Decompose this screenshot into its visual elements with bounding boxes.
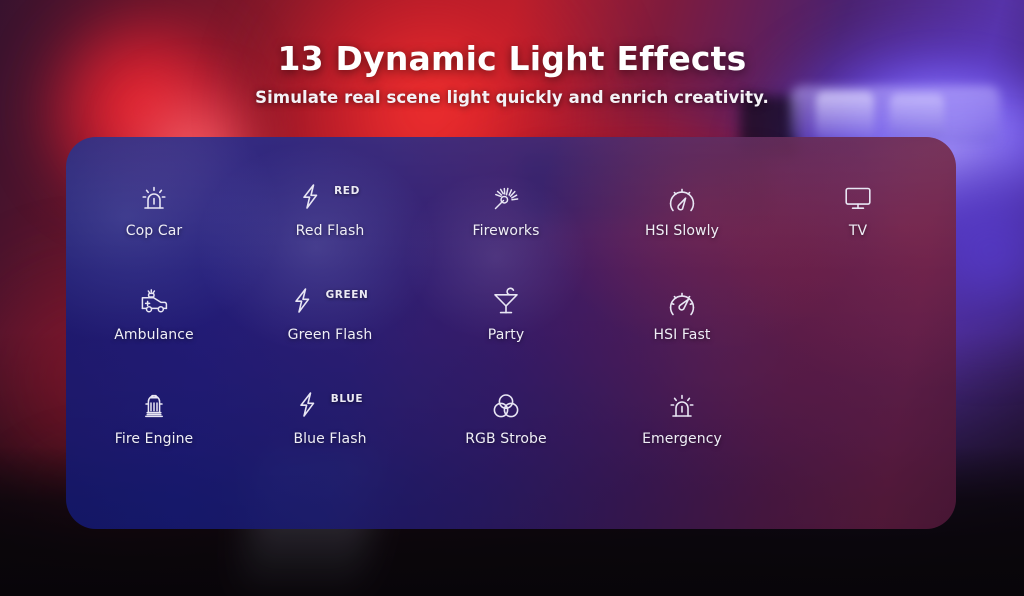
- effect-item-red-flash[interactable]: REDRed Flash: [242, 171, 418, 275]
- effect-label: Fireworks: [472, 223, 539, 239]
- venn-circles-icon: [491, 391, 521, 421]
- effects-row: Cop CarREDRed FlashFireworksHSI SlowlyTV: [66, 171, 956, 275]
- icon-slot: [667, 275, 697, 317]
- effects-row: AmbulanceGREENGreen FlashPartyHSI Fast: [66, 275, 956, 379]
- icon-slot: BLUE: [297, 379, 363, 421]
- television-icon: [843, 183, 873, 213]
- heading-block: 13 Dynamic Light Effects Simulate real s…: [0, 40, 1024, 107]
- icon-slot: [667, 379, 697, 421]
- effect-label: Fire Engine: [115, 431, 194, 447]
- effect-item-blue-flash[interactable]: BLUEBlue Flash: [242, 379, 418, 483]
- effect-item-fireworks[interactable]: Fireworks: [418, 171, 594, 275]
- effect-label: Red Flash: [296, 223, 365, 239]
- effect-label: HSI Slowly: [645, 223, 719, 239]
- lightning-icon: [300, 183, 330, 213]
- effect-label: TV: [849, 223, 867, 239]
- effect-label: HSI Fast: [654, 327, 711, 343]
- effects-row: Fire EngineBLUEBlue FlashRGB StrobeEmerg…: [66, 379, 956, 483]
- page-subtitle: Simulate real scene light quickly and en…: [0, 88, 1024, 107]
- effect-label: Green Flash: [288, 327, 373, 343]
- effect-item-cop-car[interactable]: Cop Car: [66, 171, 242, 275]
- gauge-slow-icon: [667, 183, 697, 213]
- icon-slot: [139, 379, 169, 421]
- effect-item-hsi-fast[interactable]: HSI Fast: [594, 275, 770, 379]
- effect-item-emergency[interactable]: Emergency: [594, 379, 770, 483]
- icon-slot: [139, 171, 169, 213]
- effect-label: Blue Flash: [293, 431, 366, 447]
- flash-icon-group: GREEN: [292, 287, 369, 317]
- icon-slot: [491, 275, 521, 317]
- effect-item-rgb-strobe[interactable]: RGB Strobe: [418, 379, 594, 483]
- flash-color-text: BLUE: [331, 393, 363, 405]
- effect-label: Cop Car: [126, 223, 183, 239]
- effect-label: RGB Strobe: [465, 431, 547, 447]
- effect-label: Ambulance: [114, 327, 194, 343]
- effects-panel: Cop CarREDRed FlashFireworksHSI SlowlyTV…: [66, 137, 956, 529]
- effect-item-hsi-slowly[interactable]: HSI Slowly: [594, 171, 770, 275]
- flash-color-text: RED: [334, 185, 360, 197]
- effect-label: Emergency: [642, 431, 722, 447]
- icon-slot: [491, 171, 521, 213]
- flash-icon-group: RED: [300, 183, 360, 213]
- effect-item-fire-engine[interactable]: Fire Engine: [66, 379, 242, 483]
- icon-slot: RED: [300, 171, 360, 213]
- icon-slot: [843, 171, 873, 213]
- effect-item-ambulance[interactable]: Ambulance: [66, 275, 242, 379]
- icon-slot: [491, 379, 521, 421]
- page-title: 13 Dynamic Light Effects: [0, 40, 1024, 78]
- effect-item-tv[interactable]: TV: [770, 171, 946, 275]
- ambulance-icon: [139, 287, 169, 317]
- effect-label: Party: [488, 327, 524, 343]
- gauge-fast-icon: [667, 287, 697, 317]
- flash-icon-group: BLUE: [297, 391, 363, 421]
- lightning-icon: [292, 287, 322, 317]
- effect-item-green-flash[interactable]: GREENGreen Flash: [242, 275, 418, 379]
- lightning-icon: [297, 391, 327, 421]
- cocktail-icon: [491, 287, 521, 317]
- effects-grid: Cop CarREDRed FlashFireworksHSI SlowlyTV…: [66, 137, 956, 529]
- icon-slot: [139, 275, 169, 317]
- flash-color-text: GREEN: [326, 289, 369, 301]
- icon-slot: GREEN: [292, 275, 369, 317]
- siren-icon: [139, 183, 169, 213]
- fire-hydrant-icon: [139, 391, 169, 421]
- fireworks-icon: [491, 183, 521, 213]
- siren-icon: [667, 391, 697, 421]
- effect-item-party[interactable]: Party: [418, 275, 594, 379]
- icon-slot: [667, 171, 697, 213]
